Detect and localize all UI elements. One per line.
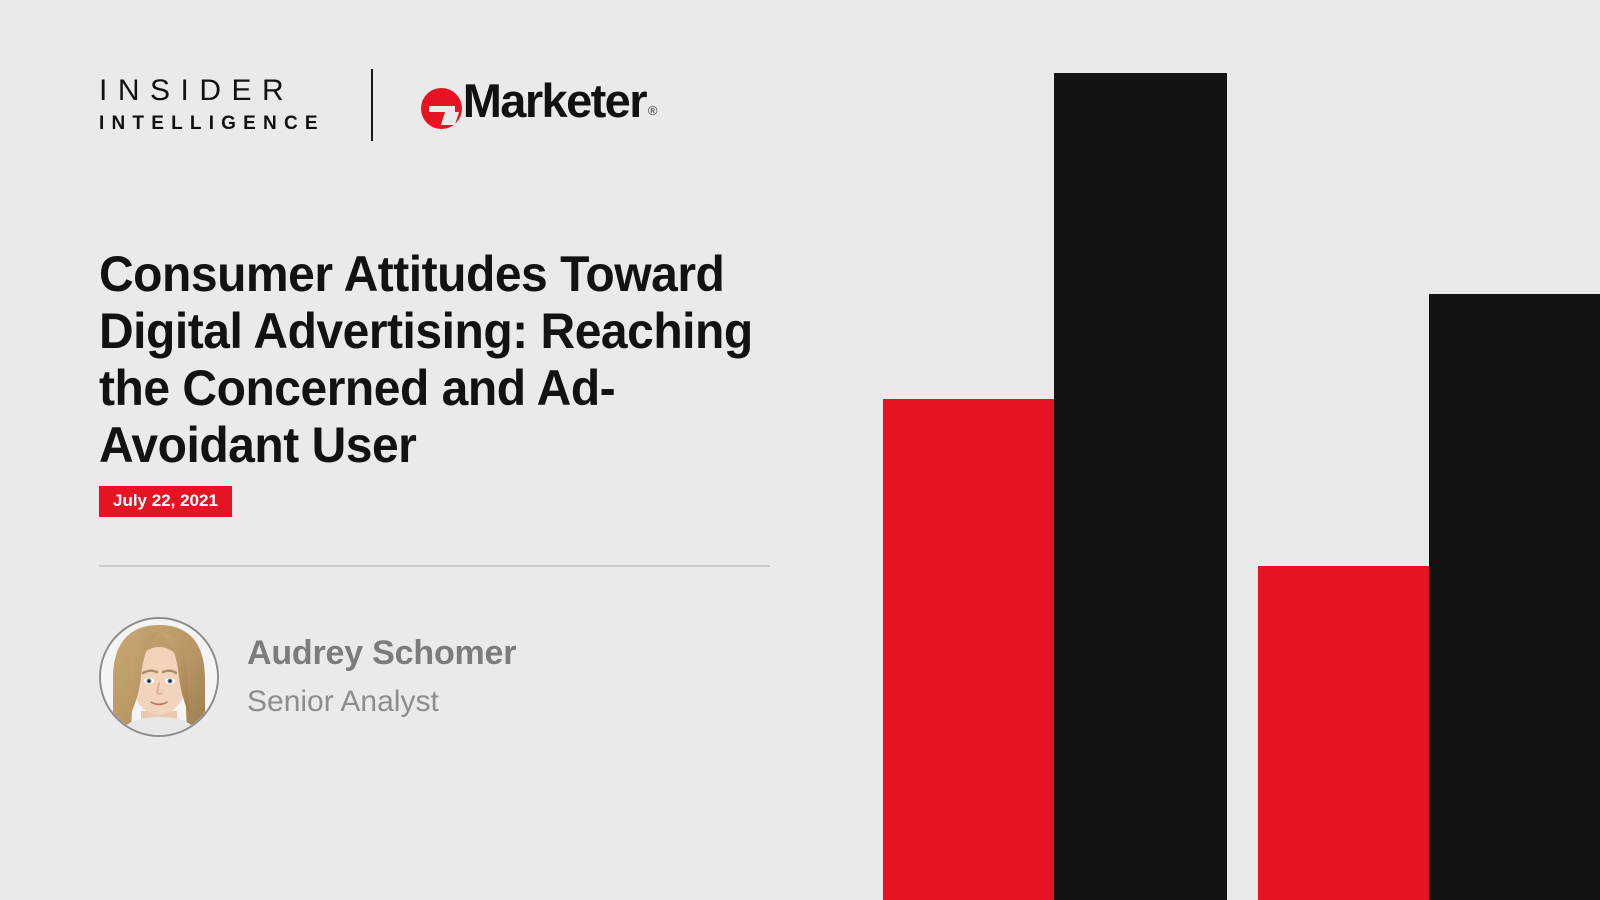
insider-intelligence-logo: INSIDER INTELLIGENCE	[99, 74, 325, 137]
author-headshot-icon	[101, 619, 217, 735]
publication-date-badge: July 22, 2021	[99, 486, 232, 517]
logo-divider-icon	[371, 69, 373, 141]
brand-logo-lockup: INSIDER INTELLIGENCE Marketer ®	[99, 66, 657, 144]
registered-trademark-icon: ®	[648, 104, 658, 117]
page-title: Consumer Attitudes Toward Digital Advert…	[99, 246, 771, 474]
author-block: Audrey Schomer Senior Analyst	[99, 617, 516, 737]
chart-bar-2	[1054, 73, 1227, 900]
chart-bar-3	[1258, 566, 1429, 900]
presentation-title-slide: INSIDER INTELLIGENCE Marketer ® Consumer…	[0, 0, 1600, 900]
insider-logo-line-2: INTELLIGENCE	[99, 111, 325, 137]
emarketer-e-mark-icon	[421, 88, 462, 129]
emarketer-wordmark: Marketer	[463, 77, 646, 124]
author-name: Audrey Schomer	[247, 633, 516, 673]
author-text: Audrey Schomer Senior Analyst	[247, 633, 516, 721]
slide-content-column: INSIDER INTELLIGENCE Marketer ® Consumer…	[99, 0, 799, 900]
insider-logo-line-1: INSIDER	[99, 74, 325, 108]
author-role: Senior Analyst	[247, 683, 516, 721]
emarketer-logo: Marketer ®	[421, 77, 658, 133]
section-divider	[99, 565, 770, 567]
avatar	[99, 617, 219, 737]
chart-bar-1	[883, 399, 1054, 900]
chart-bar-4	[1429, 294, 1600, 900]
